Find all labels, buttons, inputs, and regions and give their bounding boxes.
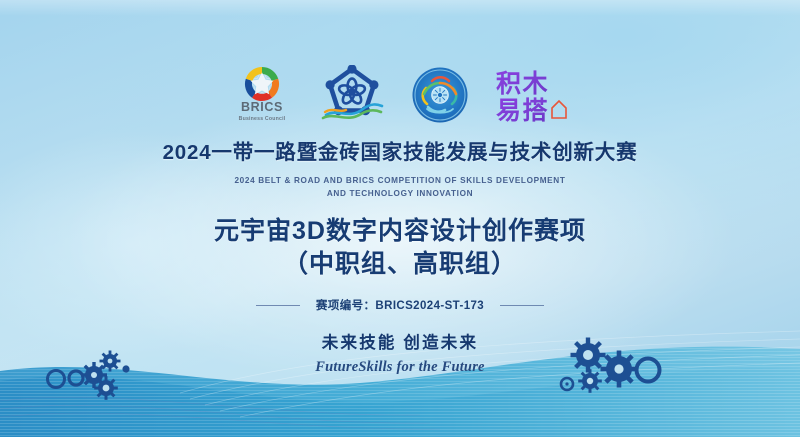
brics-star-icon bbox=[245, 67, 279, 101]
logo-jimu-yida: 积木 易搭 bbox=[495, 64, 569, 126]
event-code: 赛项编号：BRICS2024-ST-173 bbox=[316, 297, 484, 313]
belt-road-emblem-icon bbox=[319, 65, 385, 125]
jimu-yida-line1: 积木 bbox=[496, 69, 549, 98]
slogan-cn: 未来技能 创造未来 bbox=[0, 333, 800, 354]
brics-wordmark: BRICS bbox=[241, 100, 283, 114]
event-code-value: BRICS2024-ST-173 bbox=[375, 300, 484, 312]
poster-text-block: 2024一带一路暨金砖国家技能发展与技术创新大赛 2024 BELT & ROA… bbox=[0, 140, 800, 376]
competition-poster: BRICS Business Council bbox=[0, 0, 800, 437]
brics-tagline: Business Council bbox=[239, 116, 286, 122]
event-title-line2: （中职组、高职组） bbox=[0, 248, 800, 281]
event-title: 元宇宙3D数字内容设计创作赛项 （中职组、高职组） bbox=[0, 215, 800, 281]
headline-title-en-line1: 2024 BELT & ROAD AND BRICS COMPETITION O… bbox=[0, 175, 800, 188]
jimu-yida-wordmark-icon: 积木 易搭 bbox=[495, 66, 569, 124]
logo-competition-badge bbox=[411, 64, 469, 126]
headline-title-en-line2: AND TECHNOLOGY INNOVATION bbox=[0, 188, 800, 201]
competition-badge-icon bbox=[411, 66, 469, 124]
code-rule-right bbox=[500, 305, 544, 306]
headline-title-en: 2024 BELT & ROAD AND BRICS COMPETITION O… bbox=[0, 175, 800, 200]
logo-brics-business-council: BRICS Business Council bbox=[231, 64, 293, 126]
event-title-line1: 元宇宙3D数字内容设计创作赛项 bbox=[214, 217, 586, 245]
event-code-row: 赛项编号：BRICS2024-ST-173 bbox=[0, 297, 800, 313]
logo-row: BRICS Business Council bbox=[0, 62, 800, 128]
code-rule-left bbox=[256, 305, 300, 306]
jimu-yida-line2: 易搭 bbox=[496, 96, 549, 124]
headline-title-cn: 2024一带一路暨金砖国家技能发展与技术创新大赛 bbox=[0, 140, 800, 166]
slogan-en: FutureSkills for the Future bbox=[0, 359, 800, 376]
logo-belt-road-emblem bbox=[319, 64, 385, 126]
event-code-label: 赛项编号： bbox=[316, 300, 376, 312]
